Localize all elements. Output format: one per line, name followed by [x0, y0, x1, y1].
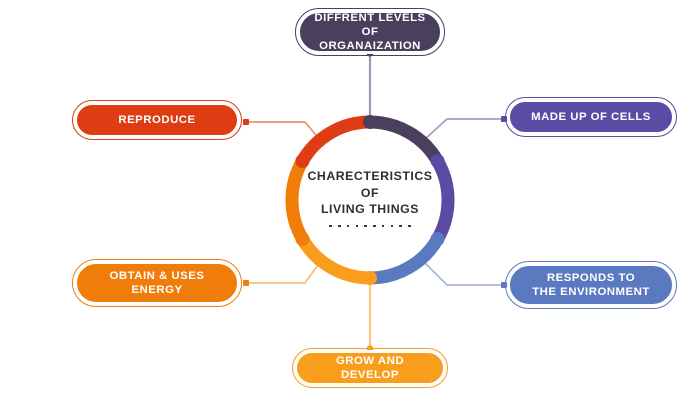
node-bottom-right-label-line-2: THE ENVIRONMENT: [532, 285, 650, 299]
center-label-line-3: LIVING THINGS: [283, 201, 457, 218]
center-label: CHARECTERISTICS OF LIVING THINGS: [283, 168, 457, 229]
radial-diagram: CHARECTERISTICS OF LIVING THINGS DIFFREN…: [0, 0, 700, 410]
node-top-left-label: REPRODUCE: [118, 113, 195, 127]
endcap-bottom-right: [501, 282, 507, 288]
endcap-bottom-left: [243, 280, 249, 286]
node-bottom-label: GROW AND DEVELOP: [309, 354, 431, 382]
node-bottom-left[interactable]: OBTAIN & USES ENERGY: [74, 261, 240, 305]
endcap-top-left: [243, 119, 249, 125]
ring-junction-dot-bottom-right: [431, 232, 445, 246]
node-top-left[interactable]: REPRODUCE: [74, 102, 240, 138]
ring-segment-reproduce: [302, 122, 370, 161]
center-label-line-1: CHARECTERISTICS: [283, 168, 457, 185]
node-bottom-right[interactable]: RESPONDS TO THE ENVIRONMENT: [507, 263, 675, 307]
ring-junction-dot-top: [363, 115, 377, 129]
ring-segment-diffrent-levels-of-organaization: [370, 122, 438, 161]
ring-junction-dot-top-right: [431, 154, 445, 168]
node-top-right-label: MADE UP OF CELLS: [531, 110, 651, 124]
node-bottom-left-label-line-1: OBTAIN & USES: [110, 269, 205, 283]
center-dotted-divider: [283, 225, 457, 229]
node-top[interactable]: DIFFRENT LEVELS OF ORGANAIZATION: [297, 10, 443, 54]
node-top-right[interactable]: MADE UP OF CELLS: [507, 99, 675, 135]
endcap-top-right: [501, 116, 507, 122]
ring-junction-dot-top-left: [295, 154, 309, 168]
node-top-label-line-2: OF ORGANAIZATION: [312, 25, 428, 53]
ring-junction-dot-bottom-left: [295, 232, 309, 246]
ring-segment-grow-and-develop: [302, 239, 370, 278]
node-top-label-line-1: DIFFRENT LEVELS: [312, 11, 428, 25]
ring-junction-dot-bottom: [363, 271, 377, 285]
node-bottom-right-label-line-1: RESPONDS TO: [532, 271, 650, 285]
ring-segment-responds-to-the-environment: [370, 239, 438, 278]
node-bottom[interactable]: GROW AND DEVELOP: [294, 350, 446, 386]
center-label-line-2: OF: [283, 185, 457, 202]
node-bottom-left-label-line-2: ENERGY: [110, 283, 205, 297]
